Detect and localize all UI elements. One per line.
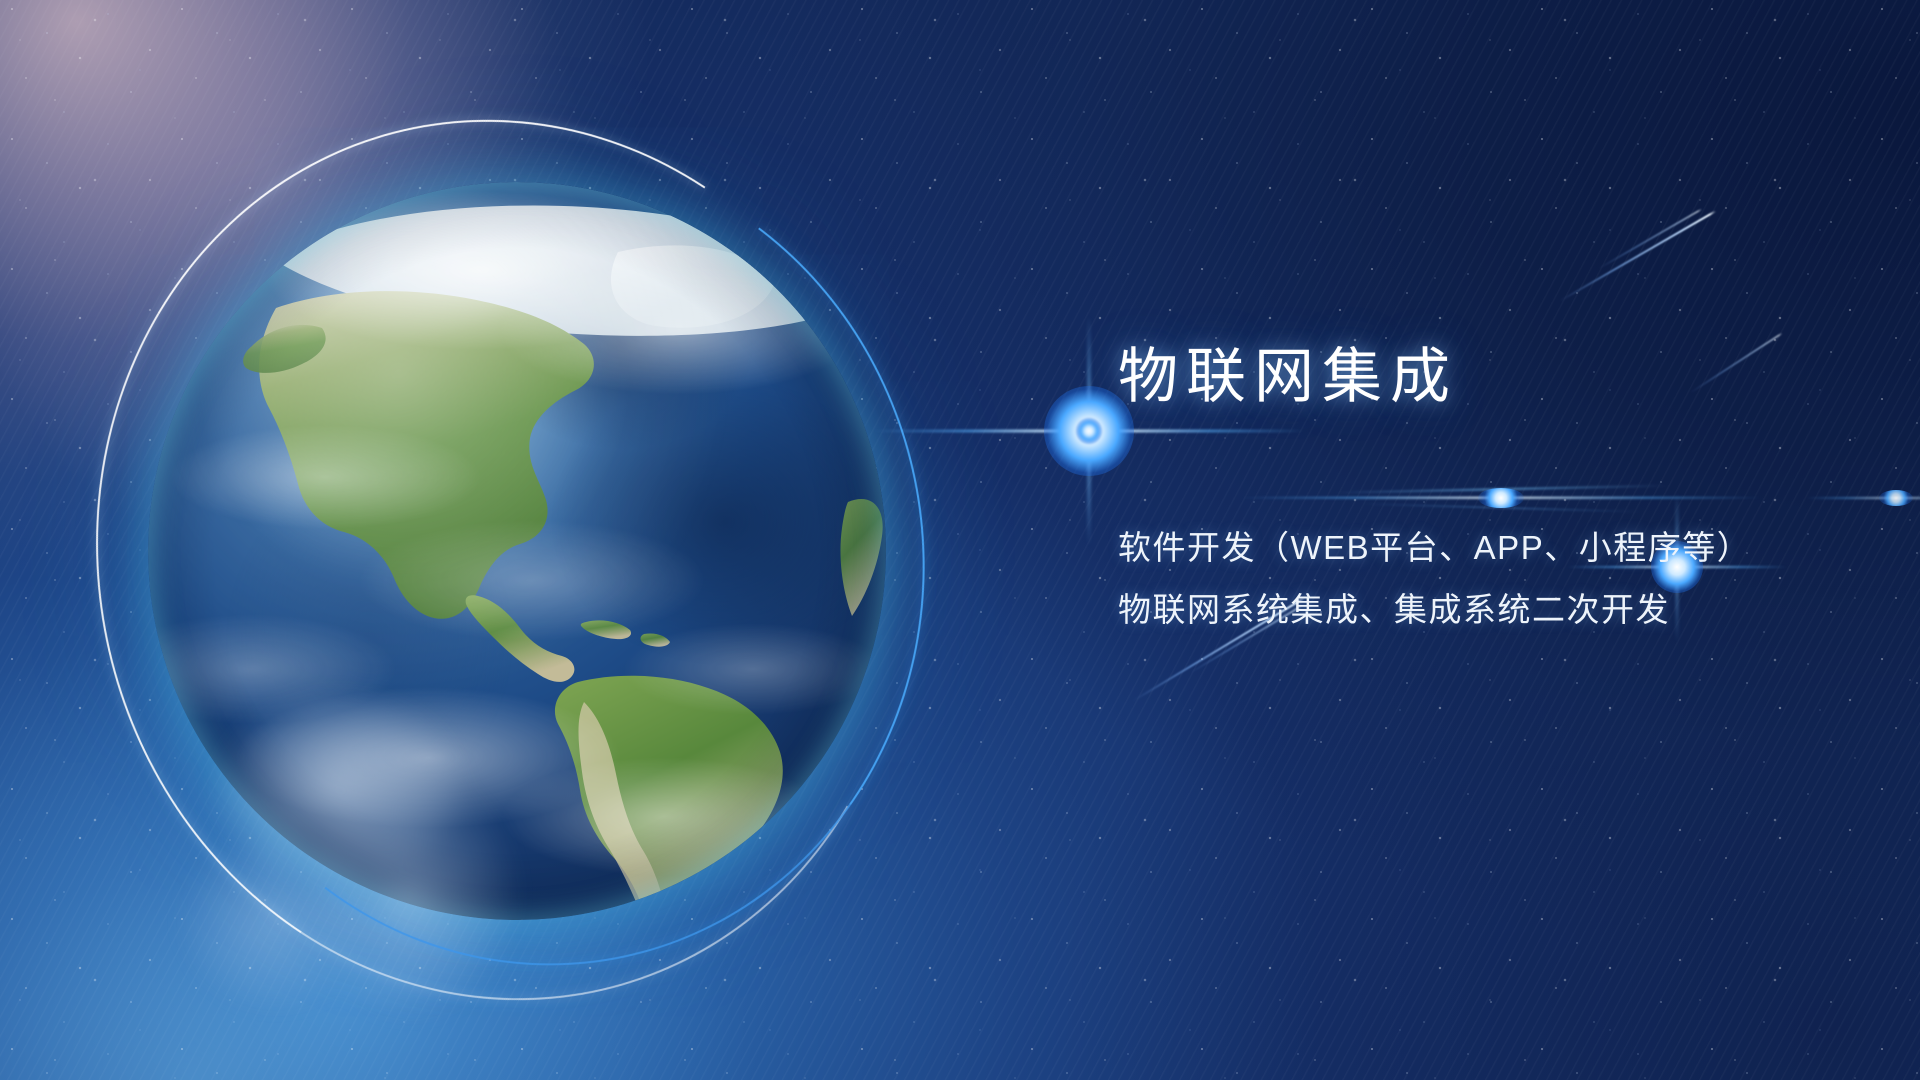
meteor-streak-icon: [1559, 210, 1716, 302]
lens-flare-edge-icon: [1895, 497, 1896, 498]
banner-subtitle-line-1: 软件开发（WEB平台、APP、小程序等）: [1118, 531, 1751, 564]
light-streak-icon: [1500, 497, 1501, 498]
meteor-streak-icon: [1598, 208, 1703, 270]
banner-subtitle-line-2: 物联网系统集成、集成系统二次开发: [1118, 593, 1670, 626]
banner-headline: 物联网集成: [1118, 345, 1458, 408]
lens-flare-icon: [1088, 430, 1089, 431]
banner-stage: 物联网集成 软件开发（WEB平台、APP、小程序等） 物联网系统集成、集成系统二…: [0, 0, 1920, 1080]
lens-flare-small-icon: [1676, 566, 1677, 567]
meteor-streak-icon: [1690, 332, 1783, 393]
